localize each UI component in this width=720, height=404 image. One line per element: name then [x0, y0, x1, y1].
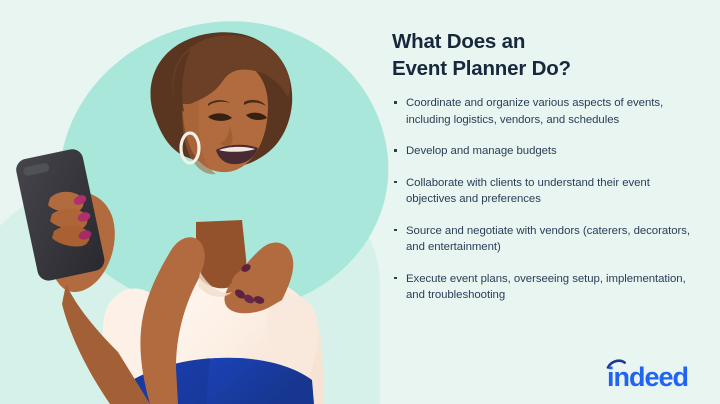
responsibilities-list: Coordinate and organize various aspects …	[392, 95, 692, 304]
slide-canvas: What Does an Event Planner Do? Coordinat…	[0, 0, 720, 404]
list-item-text: Source and negotiate with vendors (cater…	[406, 225, 690, 254]
list-item-text: Coordinate and organize various aspects …	[406, 97, 663, 126]
square-bullet-icon	[394, 277, 397, 280]
list-item: Develop and manage budgets	[392, 143, 692, 160]
square-bullet-icon	[394, 149, 397, 152]
page-title-line-2: Event Planner Do?	[392, 55, 692, 82]
square-bullet-icon	[394, 229, 397, 232]
list-item-text: Develop and manage budgets	[406, 145, 557, 157]
list-item-text: Execute event plans, overseeing setup, i…	[406, 273, 686, 302]
illustration-fingers	[48, 192, 92, 247]
list-item-text: Collaborate with clients to understand t…	[406, 177, 650, 206]
list-item: Collaborate with clients to understand t…	[392, 175, 692, 208]
content-column: What Does an Event Planner Do? Coordinat…	[392, 28, 692, 304]
indeed-wordmark: indeed	[606, 358, 704, 392]
indeed-logo[interactable]: indeed	[606, 360, 704, 392]
list-item: Source and negotiate with vendors (cater…	[392, 223, 692, 256]
page-title-line-1: What Does an	[392, 30, 525, 53]
square-bullet-icon	[394, 181, 397, 184]
square-bullet-icon	[394, 101, 397, 104]
list-item: Execute event plans, overseeing setup, i…	[392, 271, 692, 304]
woman-holding-phone-illustration	[0, 0, 400, 404]
indeed-wordmark-text: indeed	[607, 362, 688, 392]
list-item: Coordinate and organize various aspects …	[392, 95, 692, 128]
page-title: What Does an Event Planner Do?	[392, 28, 692, 82]
